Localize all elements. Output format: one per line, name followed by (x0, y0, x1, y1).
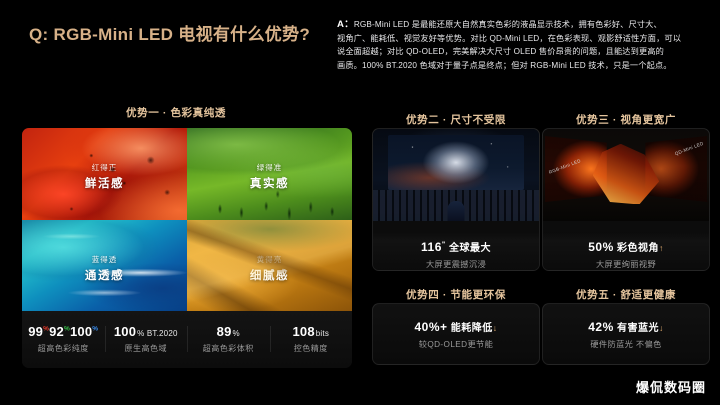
section-heading-advantage-2: 优势二 · 尺寸不受限 (370, 112, 542, 127)
arrow-down-icon: ↓ (493, 323, 498, 333)
card-energy-headline: 40%+ 能耗降低↓ (414, 319, 497, 334)
card-size-subtext: 大屏更震撼沉浸 (373, 258, 539, 270)
stat-color-gamut-value: 100% BT.2020 (105, 325, 188, 339)
tv-comparison-image: RGB-Mini LED QD-Mini LED (543, 129, 709, 221)
stat-color-depth-caption: 控色精度 (270, 343, 353, 354)
color-quadrant-grid: 红得正 鲜活感 绿得准 真实感 蓝得透 通透感 黄得亮 细腻感 (22, 128, 352, 311)
quadrant-red: 红得正 鲜活感 (22, 128, 187, 220)
stat-color-gamut: 100% BT.2020 原生高色域 (105, 325, 188, 354)
answer-line-4: 画质。100% BT.2020 色域对于量子点是终点；但对 RGB-Mini L… (337, 59, 712, 73)
arrow-up-icon: ↑ (659, 243, 664, 253)
answer-line-2: 视角广、能耗低、视觉友好等优势。对比 QD-Mini LED，在色彩表现、观影舒… (337, 32, 712, 46)
slide-root: Q: RGB-Mini LED 电视有什么优势? A：RGB-Mini LED … (0, 0, 720, 405)
stat-color-purity-caption: 超高色彩纯度 (22, 343, 105, 354)
section-heading-advantage-1: 优势一 · 色彩真纯透 (0, 105, 352, 120)
stat-color-volume-value: 89% (187, 325, 270, 339)
stat-purity-b-pct: % (92, 326, 98, 333)
stat-purity-r: 99 (28, 324, 43, 339)
stat-depth-num: 108 (292, 324, 314, 339)
stat-color-volume: 89% 超高色彩体积 (187, 325, 270, 354)
stat-color-gamut-caption: 原生高色域 (105, 343, 188, 354)
section-heading-advantage-3: 优势三 · 视角更宽广 (540, 112, 712, 127)
quadrant-green: 绿得准 真实感 (187, 128, 352, 220)
answer-block: A：RGB-Mini LED 是最能还原大自然真实色彩的液晶显示技术，拥有色彩好… (337, 18, 712, 72)
quadrant-yellow-label: 黄得亮 细腻感 (187, 254, 352, 283)
card-health-inner: 42% 有害蓝光↓ 硬件防蓝光 不偏色 (543, 304, 709, 364)
stat-color-depth: 108bits 控色精度 (270, 325, 353, 354)
stat-color-volume-caption: 超高色彩体积 (187, 343, 270, 354)
quadrant-green-label: 绿得准 真实感 (187, 162, 352, 191)
card-energy-label: 能耗降低 (448, 323, 493, 334)
answer-line-3: 说全面超越；对比 QD-OLED，完美解决大尺寸 OLED 售价昂贵的问题，且能… (337, 45, 712, 59)
quadrant-yellow-big: 细腻感 (187, 267, 352, 283)
card-advantage-energy: 40%+ 能耗降低↓ 较QD-OLED更节能 (372, 303, 540, 365)
color-showcase-panel: 红得正 鲜活感 绿得准 真实感 蓝得透 通透感 黄得亮 细腻感 (22, 128, 352, 368)
quadrant-red-small: 红得正 (22, 162, 187, 173)
card-advantage-health: 42% 有害蓝光↓ 硬件防蓝光 不偏色 (542, 303, 710, 365)
stat-volume-unit: % (233, 329, 240, 338)
answer-marker: A： (337, 19, 354, 30)
card-energy-number: 40%+ (414, 320, 447, 334)
header: Q: RGB-Mini LED 电视有什么优势? A：RGB-Mini LED … (0, 0, 720, 98)
card-size-label: 全球最大 (446, 243, 491, 254)
card-health-headline: 42% 有害蓝光↓ (588, 319, 664, 334)
card-size-number: 116 (421, 240, 442, 254)
quadrant-blue: 蓝得透 通透感 (22, 220, 187, 312)
quadrant-red-big: 鲜活感 (22, 175, 187, 191)
stat-gamut-unit: % BT.2020 (137, 329, 178, 338)
quadrant-blue-small: 蓝得透 (22, 254, 187, 265)
cinema-image (373, 129, 539, 221)
card-advantage-viewing-angle: RGB-Mini LED QD-Mini LED 50% 彩色视角↑ 大屏更绚丽… (542, 128, 710, 271)
card-energy-inner: 40%+ 能耗降低↓ 较QD-OLED更节能 (373, 304, 539, 364)
quadrant-blue-label: 蓝得透 通透感 (22, 254, 187, 283)
quadrant-green-small: 绿得准 (187, 162, 352, 173)
color-stats-bar: 99%92%100% 超高色彩纯度 100% BT.2020 原生高色域 89%… (22, 311, 352, 368)
quadrant-green-big: 真实感 (187, 175, 352, 191)
card-health-label: 有害蓝光 (614, 323, 659, 334)
watermark: 爆侃数码圈 (636, 377, 706, 396)
quadrant-red-label: 红得正 鲜活感 (22, 162, 187, 191)
card-size-headline: 116" 全球最大 (373, 239, 539, 254)
quadrant-yellow-small: 黄得亮 (187, 254, 352, 265)
stat-color-depth-value: 108bits (270, 325, 353, 339)
card-health-number: 42% (588, 320, 614, 334)
stat-purity-b: 100 (70, 324, 92, 339)
stat-gamut-num: 100 (114, 324, 136, 339)
card-size-caption: 116" 全球最大 大屏更震撼沉浸 (373, 232, 539, 270)
stat-volume-num: 89 (217, 324, 232, 339)
card-health-subtext: 硬件防蓝光 不偏色 (590, 338, 661, 350)
arrow-down-icon-health: ↓ (659, 323, 664, 333)
cinema-screen-icon (388, 135, 524, 190)
section-heading-advantage-4: 优势四 · 节能更环保 (370, 287, 542, 302)
card-angle-number: 50% (588, 240, 614, 254)
page-title: Q: RGB-Mini LED 电视有什么优势? (29, 20, 310, 45)
card-advantage-size: 116" 全球最大 大屏更震撼沉浸 (372, 128, 540, 271)
answer-line-1: A：RGB-Mini LED 是最能还原大自然真实色彩的液晶显示技术，拥有色彩好… (337, 18, 712, 32)
card-angle-headline: 50% 彩色视角↑ (543, 239, 709, 254)
card-energy-subtext: 较QD-OLED更节能 (419, 338, 493, 350)
quadrant-blue-big: 通透感 (22, 267, 187, 283)
stat-color-purity: 99%92%100% 超高色彩纯度 (22, 325, 105, 354)
stat-purity-g: 92 (49, 324, 64, 339)
cinema-viewer-silhouette-icon (448, 201, 465, 221)
card-angle-label: 彩色视角 (614, 243, 659, 254)
section-heading-advantage-5: 优势五 · 舒适更健康 (540, 287, 712, 302)
card-angle-subtext: 大屏更绚丽视野 (543, 258, 709, 270)
answer-text-1: RGB-Mini LED 是最能还原大自然真实色彩的液晶显示技术，拥有色彩好、尺… (354, 20, 662, 29)
card-angle-caption: 50% 彩色视角↑ 大屏更绚丽视野 (543, 232, 709, 270)
stat-depth-unit: bits (316, 329, 329, 338)
stat-color-purity-value: 99%92%100% (22, 325, 105, 339)
quadrant-yellow: 黄得亮 细腻感 (187, 220, 352, 312)
